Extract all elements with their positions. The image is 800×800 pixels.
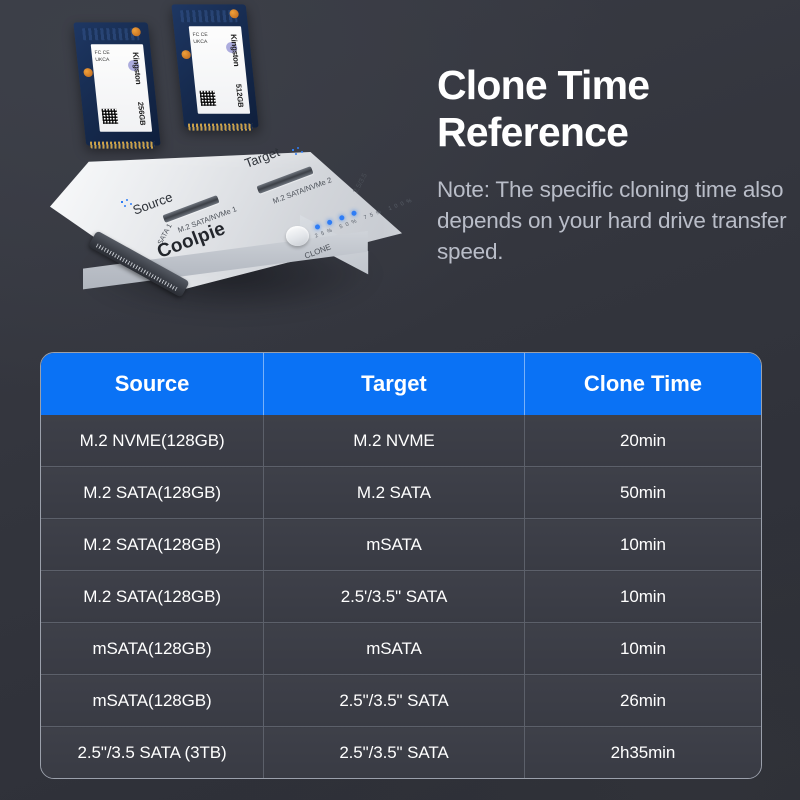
ssd-screw-icon (181, 50, 191, 59)
cell-target: M.2 NVME (264, 415, 525, 467)
product-illustration: FC CE UKCA Kingston 256GB FC CE UKCA Kin… (28, 0, 428, 345)
hero-text-block: Clone Time Reference Note: The specific … (437, 62, 787, 267)
hero-section: FC CE UKCA Kingston 256GB FC CE UKCA Kin… (0, 0, 800, 345)
led-25 (314, 224, 320, 230)
cell-source: M.2 SATA(128GB) (41, 571, 264, 623)
table-header: Source Target Clone Time (41, 353, 761, 415)
cell-clone-time: 10min (524, 519, 761, 571)
cell-target: M.2 SATA (264, 467, 525, 519)
ssd-label: FC CE UKCA Kingston 512GB (189, 26, 250, 114)
ssd-capacity-text: 256GB (136, 102, 148, 126)
hero-note: Note: The specific cloning time also dep… (437, 174, 787, 267)
clone-button[interactable] (286, 226, 309, 246)
led-50 (326, 219, 332, 225)
cell-source: M.2 NVME(128GB) (41, 415, 264, 467)
clone-time-table: Source Target Clone Time M.2 NVME(128GB)… (41, 353, 761, 778)
table-header-row: Source Target Clone Time (41, 353, 761, 415)
ssd-connector (90, 142, 155, 149)
ssd-screw-icon (131, 27, 141, 36)
ssd-connector (188, 124, 253, 131)
page-title-line2: Reference (437, 109, 628, 155)
column-header-source: Source (41, 353, 264, 415)
cell-source: mSATA(128GB) (41, 675, 264, 727)
cell-clone-time: 26min (524, 675, 761, 727)
cell-clone-time: 10min (524, 571, 761, 623)
page-title: Clone Time Reference (437, 62, 787, 156)
ssd-label: FC CE UKCA Kingston 256GB (91, 44, 152, 132)
table-row: mSATA(128GB) mSATA 10min (41, 623, 761, 675)
ssd-brand-text: Kingston (229, 34, 241, 66)
ssd-module-target: FC CE UKCA Kingston 512GB (171, 4, 258, 127)
table-row: M.2 SATA(128GB) M.2 SATA 50min (41, 467, 761, 519)
ssd-qr-icon (102, 109, 119, 124)
table-body: M.2 NVME(128GB) M.2 NVME 20min M.2 SATA(… (41, 415, 761, 778)
ssd-module-source: FC CE UKCA Kingston 256GB (73, 22, 160, 145)
cell-target: 2.5"/3.5" SATA (264, 727, 525, 779)
table-row: M.2 SATA(128GB) 2.5'/3.5" SATA 10min (41, 571, 761, 623)
page-root: FC CE UKCA Kingston 256GB FC CE UKCA Kin… (0, 0, 800, 800)
table-row: 2.5"/3.5 SATA (3TB) 2.5"/3.5" SATA 2h35m… (41, 727, 761, 779)
column-header-target: Target (264, 353, 525, 415)
target-dots-icon (291, 147, 304, 156)
cell-clone-time: 10min (524, 623, 761, 675)
ssd-qr-icon (200, 91, 217, 106)
ssd-capacity-text: 512GB (234, 84, 246, 108)
cell-clone-time: 20min (524, 415, 761, 467)
ssd-screw-icon (229, 9, 239, 18)
cell-source: mSATA(128GB) (41, 623, 264, 675)
clone-time-table-container: Source Target Clone Time M.2 NVME(128GB)… (40, 352, 762, 779)
table-row: M.2 NVME(128GB) M.2 NVME 20min (41, 415, 761, 467)
table-row: M.2 SATA(128GB) mSATA 10min (41, 519, 761, 571)
cell-target: 2.5'/3.5" SATA (264, 571, 525, 623)
cell-source: M.2 SATA(128GB) (41, 519, 264, 571)
cell-source: M.2 SATA(128GB) (41, 467, 264, 519)
cell-clone-time: 2h35min (524, 727, 761, 779)
page-title-line1: Clone Time (437, 62, 649, 108)
led-100 (351, 210, 357, 216)
cell-source: 2.5"/3.5 SATA (3TB) (41, 727, 264, 779)
cell-target: 2.5"/3.5" SATA (264, 675, 525, 727)
column-header-clone-time: Clone Time (524, 353, 761, 415)
ssd-brand-text: Kingston (131, 52, 143, 84)
led-75 (339, 215, 345, 221)
table-row: mSATA(128GB) 2.5"/3.5" SATA 26min (41, 675, 761, 727)
cell-clone-time: 50min (524, 467, 761, 519)
ssd-screw-icon (83, 68, 93, 77)
cell-target: mSATA (264, 519, 525, 571)
cell-target: mSATA (264, 623, 525, 675)
